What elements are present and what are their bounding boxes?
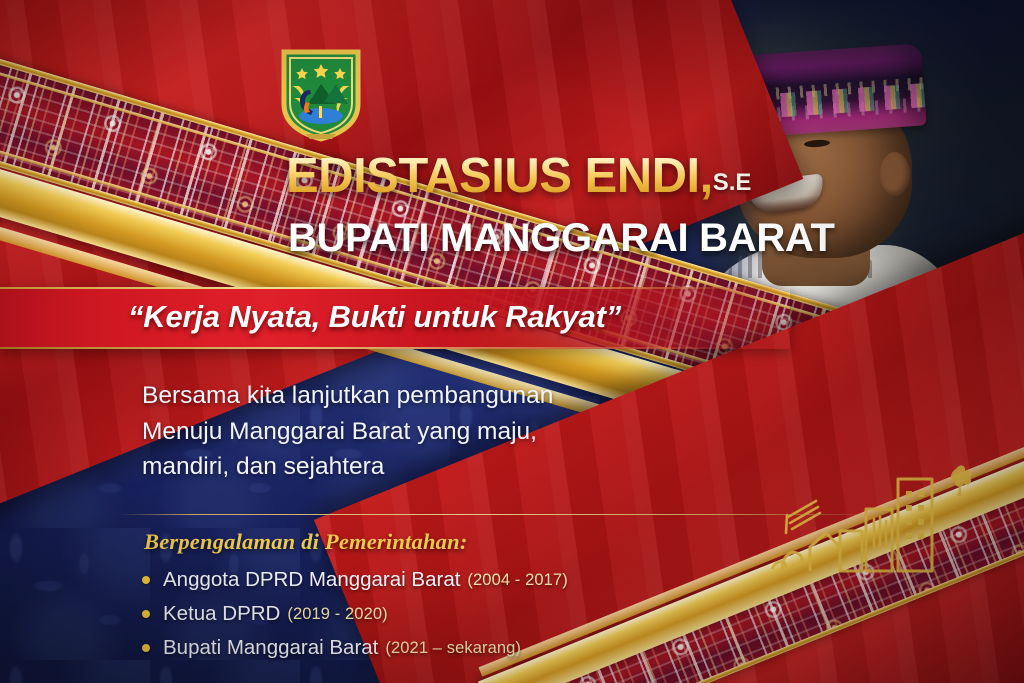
message-line: Menuju Manggarai Barat yang maju, [142,414,702,450]
candidate-name-line: EDISTASIUS ENDI,S.E [286,152,751,201]
ribbon-gold-bottom-border [0,347,740,349]
list-item: Anggota DPRD Manggarai Barat (2004 - 201… [142,563,762,597]
campaign-tagline: “Kerja Nyata, Bukti untuk Rakyat” [128,299,621,335]
regency-emblem-icon [280,46,362,142]
experience-role: Anggota DPRD Manggarai Barat [163,568,460,592]
campaign-banner: EDISTASIUS ENDI,S.E BUPATI MANGGARAI BAR… [0,0,1024,683]
bullet-dot-icon [142,644,150,652]
experience-role: Ketua DPRD [163,602,280,626]
experience-heading: Berpengalaman di Pemerintahan: [144,529,468,555]
bullet-dot-icon [142,610,150,618]
experience-years: (2021 – sekarang) [385,639,521,658]
ribbon-gold-top-border [0,287,760,289]
gold-divider [118,514,888,515]
experience-list: Anggota DPRD Manggarai Barat (2004 - 201… [142,563,762,665]
candidate-name: EDISTASIUS ENDI, [286,149,713,203]
ear [880,152,910,196]
bullet-dot-icon [142,576,150,584]
candidate-degree: S.E [713,169,752,196]
list-item: Bupati Manggarai Barat (2021 – sekarang) [142,631,762,665]
message-line: mandiri, dan sejahtera [142,449,702,485]
list-item: Ketua DPRD (2019 - 2020) [142,597,762,631]
campaign-message: Bersama kita lanjutkan pembangunan Menuj… [142,378,702,485]
experience-years: (2004 - 2017) [467,571,567,590]
message-line: Bersama kita lanjutkan pembangunan [142,378,702,414]
office-title: BUPATI MANGGARAI BARAT [288,218,835,258]
city-skyline-icon [770,457,980,587]
experience-role: Bupati Manggarai Barat [163,636,378,660]
experience-years: (2019 - 2020) [287,605,387,624]
